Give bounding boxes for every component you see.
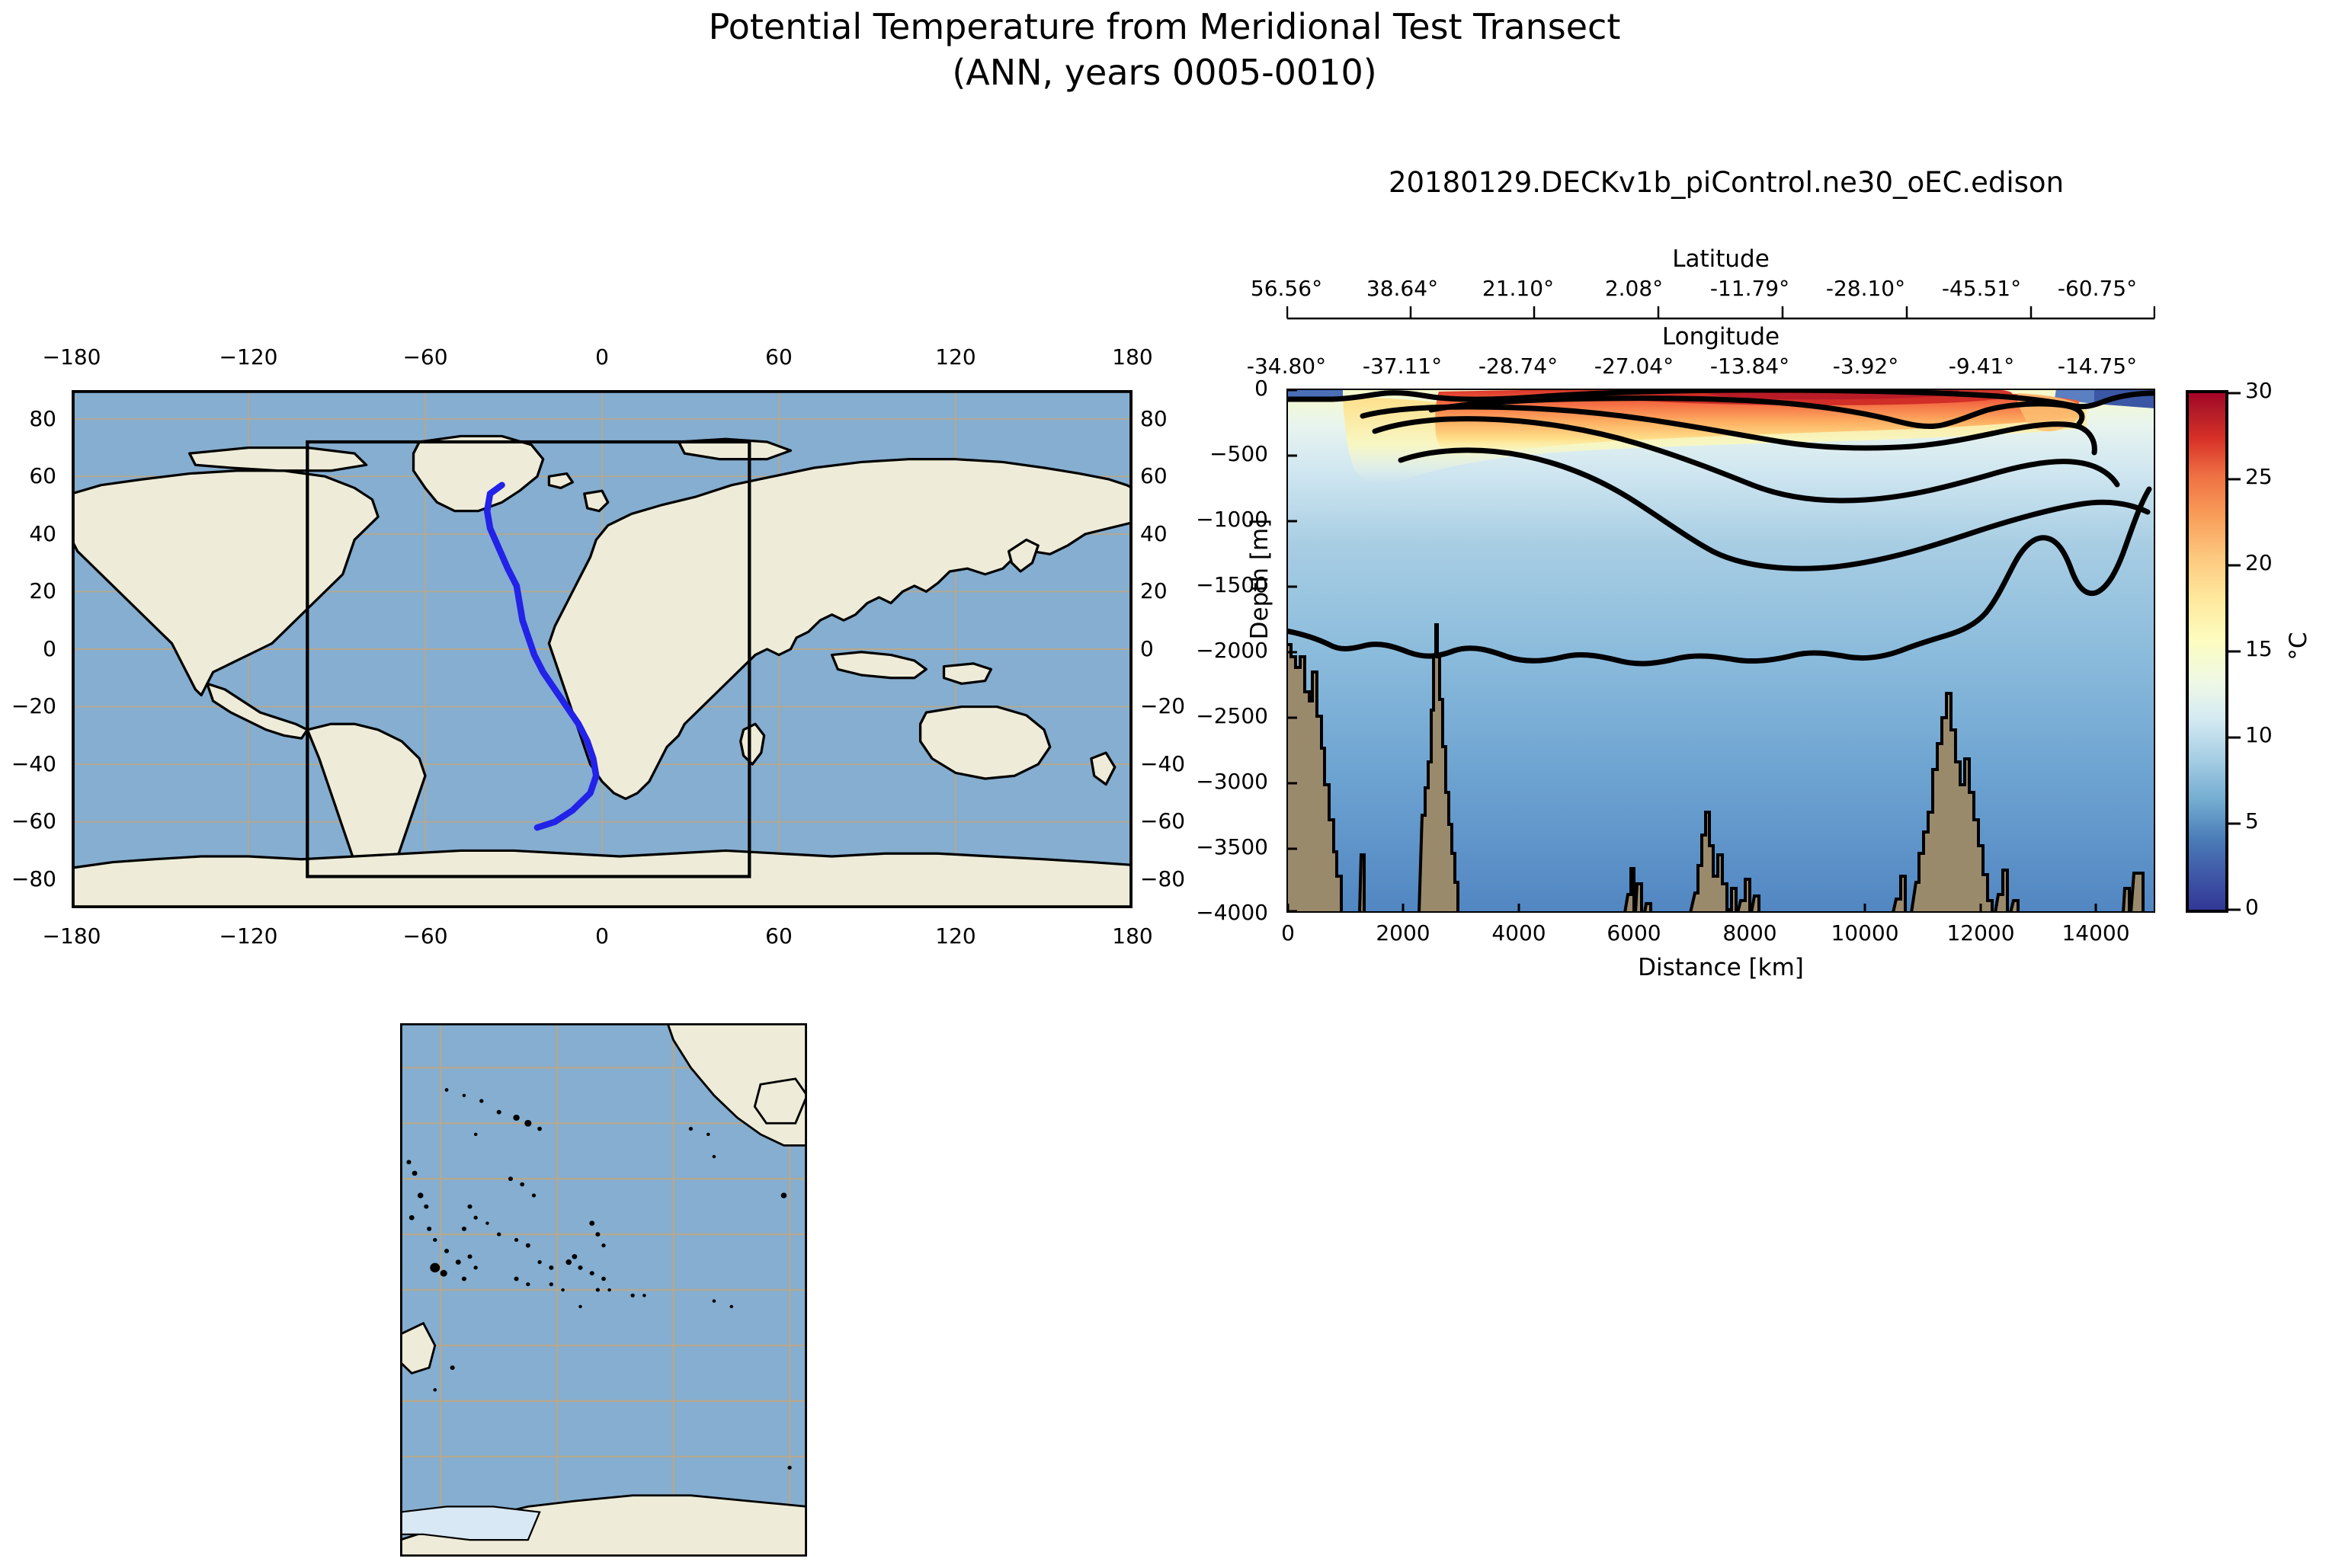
bathymetry-antarctic-shelf bbox=[2131, 873, 2143, 913]
world-map-xtick-bot-5: 120 bbox=[910, 923, 1001, 949]
world-map-left-yticks: 80 60 40 20 0 −20 −40 −60 −80 bbox=[0, 390, 67, 908]
world-map-xtick-top-2: −60 bbox=[380, 344, 471, 370]
arctic-islands-landmass bbox=[190, 448, 367, 471]
antarctica-landmass bbox=[72, 850, 1132, 908]
dist-tick-2: 4000 bbox=[1458, 920, 1580, 946]
colorbar-tick-5: 5 bbox=[2245, 808, 2314, 834]
world-map-ytick-left-0: 80 bbox=[0, 406, 56, 431]
bathymetry-spike-c bbox=[1635, 884, 1642, 913]
transect-longitude-ticks: -34.80° -37.11° -28.74° -27.04° -13.84° … bbox=[1286, 354, 2155, 384]
world-map[interactable] bbox=[72, 390, 1132, 908]
world-map-ytick-left-7: −60 bbox=[0, 808, 56, 834]
dist-tick-6: 12000 bbox=[1920, 920, 2042, 946]
bathymetry-spike-i bbox=[2010, 901, 2018, 913]
depth-tick-4: −2000 bbox=[1166, 638, 1268, 663]
transect-distance-axis-label: Distance [km] bbox=[1286, 954, 2155, 981]
depth-tick-6: −3000 bbox=[1166, 769, 1268, 794]
colorbar-tick-10: 10 bbox=[2245, 722, 2314, 747]
bathymetry-spike-j bbox=[2123, 888, 2129, 913]
colorbar-unit-label: °C bbox=[2285, 616, 2312, 677]
world-map-ytick-left-1: 60 bbox=[0, 463, 56, 488]
transect-latitude-ticks: 56.56° 38.64° 21.10° 2.08° -11.79° -28.1… bbox=[1286, 276, 2155, 306]
bathymetry-spike-a bbox=[1360, 855, 1364, 913]
world-map-xtick-top-1: −120 bbox=[203, 344, 294, 370]
world-map-xtick-bot-4: 60 bbox=[733, 923, 825, 949]
colorbar-tick-0: 0 bbox=[2245, 894, 2314, 920]
world-map-xtick-bot-1: −120 bbox=[203, 923, 294, 949]
transect-latitude-axis-label: Latitude bbox=[1286, 245, 2155, 273]
world-map-xtick-bot-2: −60 bbox=[380, 923, 471, 949]
colorbar-tick-20: 20 bbox=[2245, 550, 2314, 575]
page-title: Potential Temperature from Meridional Te… bbox=[0, 5, 2329, 96]
colorbar-tick-marks bbox=[2228, 390, 2242, 913]
world-map-xtick-top-4: 60 bbox=[733, 344, 825, 370]
world-map-xtick-top-5: 120 bbox=[910, 344, 1001, 370]
depth-tick-7: −3500 bbox=[1166, 834, 1268, 859]
run-name-label: 20180129.DECKv1b_piControl.ne30_oEC.edis… bbox=[1235, 166, 2218, 199]
depth-tick-0: 0 bbox=[1166, 376, 1268, 401]
inset-gulf-landmass bbox=[754, 1079, 807, 1123]
transect-latitude-tick-rule bbox=[1286, 303, 2155, 320]
inset-ice-shelf bbox=[400, 1506, 540, 1540]
depth-tick-1: −500 bbox=[1166, 441, 1268, 466]
transect-longitude-axis-label: Longitude bbox=[1286, 323, 2155, 350]
colorbar-tick-25: 25 bbox=[2245, 464, 2314, 489]
depth-tick-2: −1000 bbox=[1166, 507, 1268, 532]
colorbar-tick-30: 30 bbox=[2245, 378, 2314, 403]
new-guinea-landmass bbox=[944, 664, 992, 683]
dist-tick-3: 6000 bbox=[1573, 920, 1695, 946]
dist-tick-0: 0 bbox=[1227, 920, 1349, 946]
world-map-ytick-left-4: 0 bbox=[0, 636, 56, 661]
world-map-xtick-bot-6: 180 bbox=[1087, 923, 1178, 949]
world-map-xtick-top-3: 0 bbox=[556, 344, 648, 370]
page-title-line2: (ANN, years 0005-0010) bbox=[0, 50, 2329, 96]
transect-depth-ticks: 0 −500 −1000 −1500 −2000 −2500 −3000 −35… bbox=[1166, 389, 1277, 914]
page-title-line1: Potential Temperature from Meridional Te… bbox=[0, 5, 2329, 50]
dist-tick-1: 2000 bbox=[1342, 920, 1464, 946]
world-map-xtick-top-6: 180 bbox=[1087, 344, 1178, 370]
bathymetry-spike-f bbox=[1751, 896, 1759, 913]
inset-map[interactable] bbox=[400, 1023, 807, 1557]
world-map-ytick-left-6: −40 bbox=[0, 751, 56, 776]
dist-tick-4: 8000 bbox=[1689, 920, 1811, 946]
world-map-ytick-left-3: 20 bbox=[0, 578, 56, 603]
dist-tick-7: 14000 bbox=[2035, 920, 2157, 946]
world-map-bottom-xticks: −180 −120 −60 0 60 120 180 bbox=[72, 923, 1132, 954]
world-map-top-xticks: −180 −120 −60 0 60 120 180 bbox=[72, 344, 1132, 375]
colorbar[interactable] bbox=[2186, 390, 2228, 913]
world-map-xtick-bot-0: −180 bbox=[26, 923, 117, 949]
world-map-xtick-top-0: −180 bbox=[26, 344, 117, 370]
world-map-ytick-left-5: −20 bbox=[0, 693, 56, 718]
dist-tick-5: 10000 bbox=[1804, 920, 1926, 946]
colorbar-gradient bbox=[2187, 392, 2227, 911]
world-map-ytick-left-8: −80 bbox=[0, 866, 56, 891]
depth-tick-3: −1500 bbox=[1166, 572, 1268, 597]
world-map-xtick-bot-3: 0 bbox=[556, 923, 648, 949]
transect-distance-ticks: 0 2000 4000 6000 8000 10000 12000 14000 bbox=[1286, 920, 2155, 951]
depth-tick-5: −2500 bbox=[1166, 703, 1268, 728]
world-map-ytick-left-2: 40 bbox=[0, 521, 56, 546]
lon-tick-7: -14.75° bbox=[2029, 354, 2166, 379]
lat-tick-7: -60.75° bbox=[2029, 276, 2166, 301]
transect-plot[interactable] bbox=[1286, 389, 2155, 913]
